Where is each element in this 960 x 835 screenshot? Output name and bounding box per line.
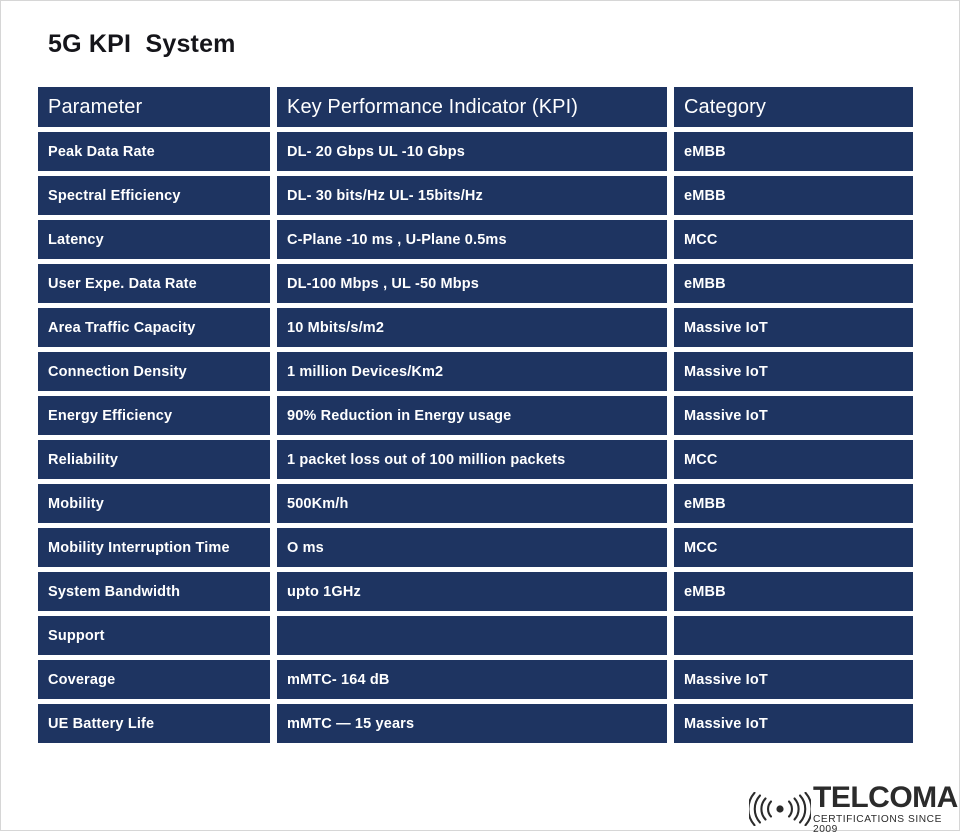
cell-kpi: mMTC- 164 dB bbox=[277, 660, 667, 699]
cell-category: MCC bbox=[674, 528, 913, 567]
cell-parameter: Energy Efficiency bbox=[38, 396, 270, 435]
column-header-category: Category bbox=[674, 87, 913, 127]
table-row: Energy Efficiency90% Reduction in Energy… bbox=[38, 396, 906, 435]
logo-brand-name: TELCOMA bbox=[813, 783, 959, 813]
cell-kpi: O ms bbox=[277, 528, 667, 567]
table-row: LatencyC-Plane -10 ms , U-Plane 0.5msMCC bbox=[38, 220, 906, 259]
cell-category bbox=[674, 616, 913, 655]
cell-kpi: upto 1GHz bbox=[277, 572, 667, 611]
column-header-kpi: Key Performance Indicator (KPI) bbox=[277, 87, 667, 127]
cell-category: eMBB bbox=[674, 484, 913, 523]
cell-parameter: Support bbox=[38, 616, 270, 655]
cell-category: eMBB bbox=[674, 176, 913, 215]
table-header-row: Parameter Key Performance Indicator (KPI… bbox=[38, 87, 906, 127]
cell-kpi: C-Plane -10 ms , U-Plane 0.5ms bbox=[277, 220, 667, 259]
logo-text-block: TELCOMA CERTIFICATIONS SINCE 2009 bbox=[813, 783, 959, 835]
cell-kpi: 10 Mbits/s/m2 bbox=[277, 308, 667, 347]
logo-tagline: CERTIFICATIONS SINCE 2009 bbox=[813, 815, 959, 835]
cell-parameter: Mobility bbox=[38, 484, 270, 523]
cell-parameter: Spectral Efficiency bbox=[38, 176, 270, 215]
cell-parameter: Peak Data Rate bbox=[38, 132, 270, 171]
cell-category: Massive IoT bbox=[674, 396, 913, 435]
cell-kpi: 500Km/h bbox=[277, 484, 667, 523]
cell-kpi bbox=[277, 616, 667, 655]
cell-parameter: Latency bbox=[38, 220, 270, 259]
cell-kpi: DL-100 Mbps , UL -50 Mbps bbox=[277, 264, 667, 303]
cell-kpi: 1 packet loss out of 100 million packets bbox=[277, 440, 667, 479]
cell-category: Massive IoT bbox=[674, 704, 913, 743]
table-row: UE Battery LifemMTC — 15 yearsMassive Io… bbox=[38, 704, 906, 743]
cell-parameter: Area Traffic Capacity bbox=[38, 308, 270, 347]
table-row: Mobility500Km/heMBB bbox=[38, 484, 906, 523]
cell-category: Massive IoT bbox=[674, 660, 913, 699]
cell-kpi: DL- 20 Gbps UL -10 Gbps bbox=[277, 132, 667, 171]
table-row: Connection Density1 million Devices/Km2M… bbox=[38, 352, 906, 391]
cell-category: eMBB bbox=[674, 264, 913, 303]
table-row: Area Traffic Capacity10 Mbits/s/m2Massiv… bbox=[38, 308, 906, 347]
cell-parameter: Reliability bbox=[38, 440, 270, 479]
slide-canvas: 5G KPI System Parameter Key Performance … bbox=[0, 0, 960, 831]
cell-kpi: 1 million Devices/Km2 bbox=[277, 352, 667, 391]
kpi-table: Parameter Key Performance Indicator (KPI… bbox=[38, 87, 906, 748]
cell-parameter: UE Battery Life bbox=[38, 704, 270, 743]
cell-category: MCC bbox=[674, 440, 913, 479]
cell-kpi: DL- 30 bits/Hz UL- 15bits/Hz bbox=[277, 176, 667, 215]
table-row: Reliability1 packet loss out of 100 mill… bbox=[38, 440, 906, 479]
table-row: Support bbox=[38, 616, 906, 655]
telcoma-logo: TELCOMA CERTIFICATIONS SINCE 2009 bbox=[749, 783, 959, 835]
cell-kpi: 90% Reduction in Energy usage bbox=[277, 396, 667, 435]
table-row: User Expe. Data RateDL-100 Mbps , UL -50… bbox=[38, 264, 906, 303]
table-body: Peak Data RateDL- 20 Gbps UL -10 GbpseMB… bbox=[38, 132, 906, 743]
cell-category: eMBB bbox=[674, 132, 913, 171]
cell-parameter: Coverage bbox=[38, 660, 270, 699]
table-row: Spectral EfficiencyDL- 30 bits/Hz UL- 15… bbox=[38, 176, 906, 215]
column-header-parameter: Parameter bbox=[38, 87, 270, 127]
cell-parameter: Mobility Interruption Time bbox=[38, 528, 270, 567]
cell-category: Massive IoT bbox=[674, 352, 913, 391]
cell-kpi: mMTC — 15 years bbox=[277, 704, 667, 743]
table-row: CoveragemMTC- 164 dBMassive IoT bbox=[38, 660, 906, 699]
page-title: 5G KPI System bbox=[48, 30, 236, 59]
cell-category: MCC bbox=[674, 220, 913, 259]
table-row: System Bandwidthupto 1GHzeMBB bbox=[38, 572, 906, 611]
table-row: Peak Data RateDL- 20 Gbps UL -10 GbpseMB… bbox=[38, 132, 906, 171]
cell-category: eMBB bbox=[674, 572, 913, 611]
cell-parameter: System Bandwidth bbox=[38, 572, 270, 611]
broadcast-signal-icon bbox=[749, 792, 811, 826]
cell-parameter: Connection Density bbox=[38, 352, 270, 391]
cell-category: Massive IoT bbox=[674, 308, 913, 347]
table-row: Mobility Interruption TimeO msMCC bbox=[38, 528, 906, 567]
cell-parameter: User Expe. Data Rate bbox=[38, 264, 270, 303]
